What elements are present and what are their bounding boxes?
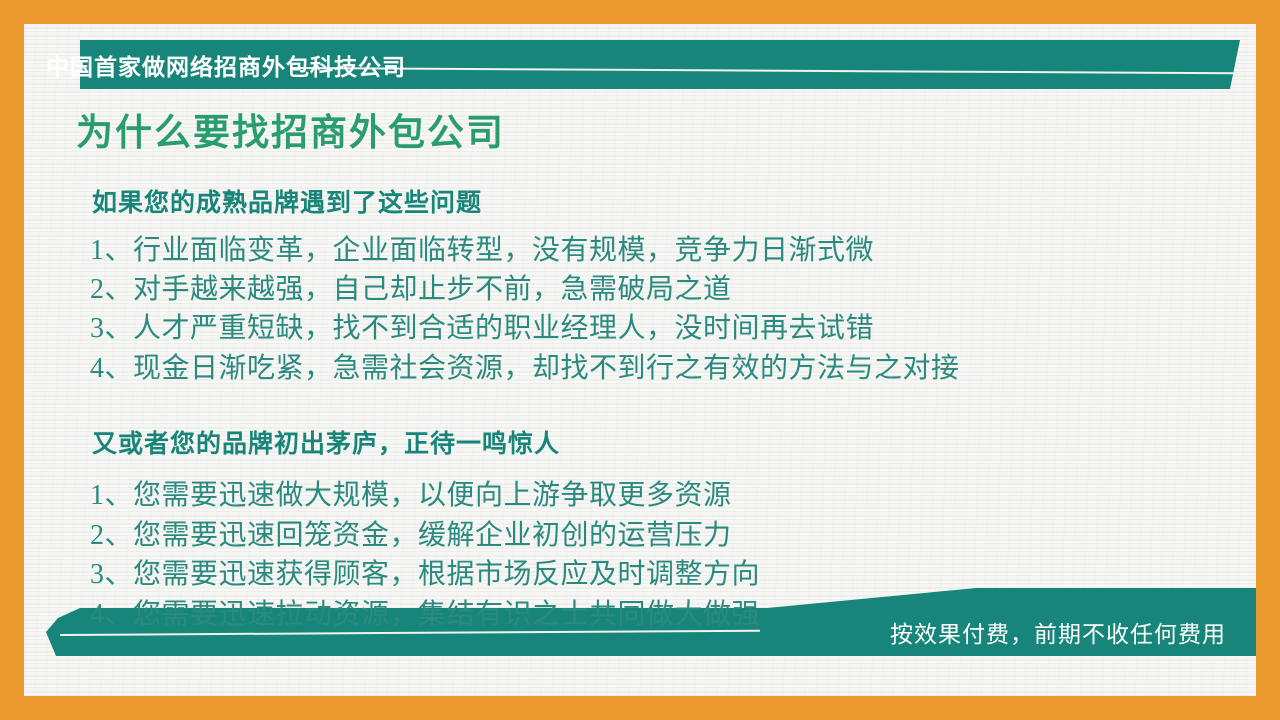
footer-slogan: 按效果付费，前期不收任何费用 (890, 610, 1226, 654)
list-item: 3、您需要迅速获得顾客，根据市场反应及时调整方向 (90, 555, 1256, 594)
list-item: 4、现金日渐吃紧，急需社会资源，却找不到行之有效的方法与之对接 (90, 349, 1256, 388)
list-item: 3、人才严重短缺，找不到合适的职业经理人，没时间再去试错 (90, 309, 1256, 348)
page-title: 为什么要找招商外包公司 (76, 112, 1256, 155)
paper-sheet: 中国首家做网络招商外包科技公司 为什么要找招商外包公司 如果您的成熟品牌遇到了这… (24, 24, 1256, 696)
section-1-heading: 如果您的成熟品牌遇到了这些问题 (76, 183, 1256, 219)
slide-root: 中国首家做网络招商外包科技公司 为什么要找招商外包公司 如果您的成熟品牌遇到了这… (0, 0, 1280, 720)
header-tagline: 中国首家做网络招商外包科技公司 (46, 41, 406, 88)
section-2-heading: 又或者您的品牌初出茅庐，正待一鸣惊人 (76, 424, 1256, 460)
list-item: 2、对手越来越强，自己却止步不前，急需破局之道 (90, 270, 1256, 309)
list-item: 1、行业面临变革，企业面临转型，没有规模，竞争力日渐式微 (90, 231, 1256, 270)
header-banner: 中国首家做网络招商外包科技公司 (24, 40, 1256, 100)
list-item: 2、您需要迅速回笼资金，缓解企业初创的运营压力 (90, 516, 1256, 555)
list-item: 1、您需要迅速做大规模，以便向上游争取更多资源 (90, 476, 1256, 515)
section-1-list: 1、行业面临变革，企业面临转型，没有规模，竞争力日渐式微 2、对手越来越强，自己… (76, 231, 1256, 389)
slide-content: 为什么要找招商外包公司 如果您的成熟品牌遇到了这些问题 1、行业面临变革，企业面… (24, 102, 1256, 634)
